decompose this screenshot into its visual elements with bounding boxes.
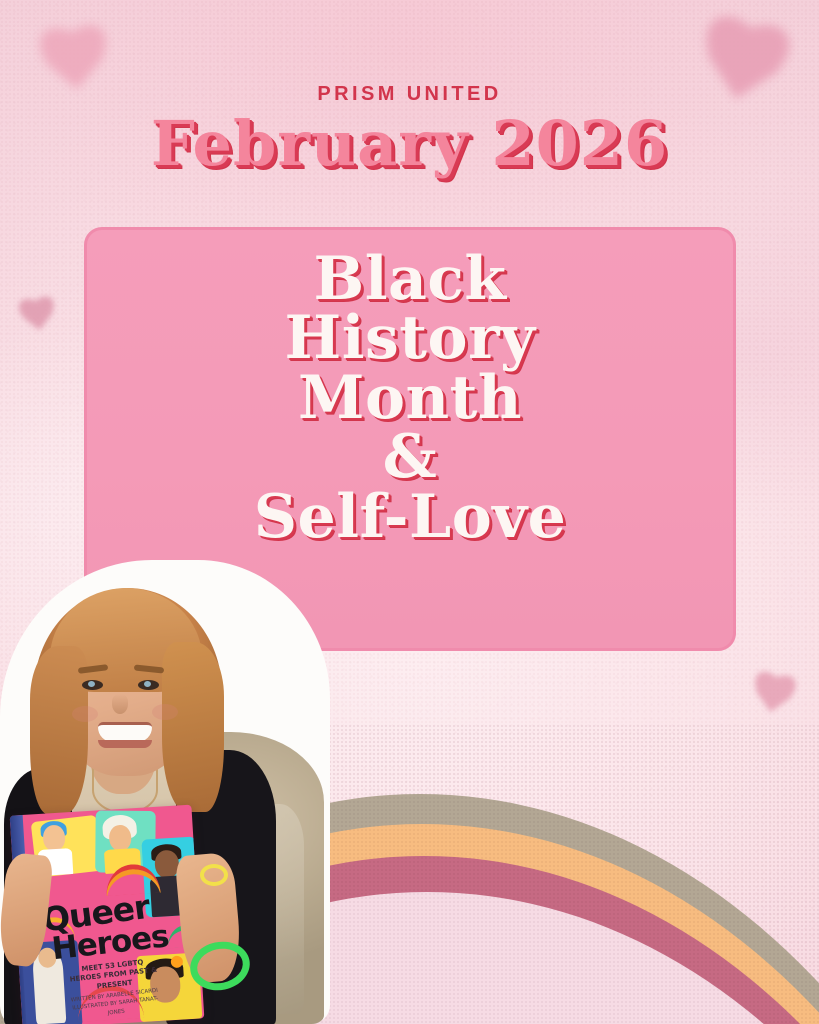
person-photo-cutout: Queer Heroes MEET 53 LGBTQ HEROES FROM P… (0, 554, 338, 1024)
smile (98, 722, 152, 742)
cheek (72, 706, 98, 722)
cheek (152, 704, 178, 720)
heart-icon (744, 670, 801, 725)
eye-highlight (144, 681, 151, 687)
nose (112, 694, 128, 714)
main-title: Black History Month & Self-Love (87, 250, 733, 547)
title-line-3: Month (87, 369, 733, 428)
lower-lip (98, 740, 152, 748)
poster-canvas: PRISM UNITED February 2026 Black History… (0, 0, 819, 1024)
title-line-4: & (87, 428, 733, 487)
title-line-2: History (87, 309, 733, 368)
ring (200, 864, 228, 886)
eye-highlight (88, 681, 95, 687)
person-figure: Queer Heroes MEET 53 LGBTQ HEROES FROM P… (0, 554, 338, 1024)
hair-strand (162, 642, 224, 812)
month-year-heading: February 2026 (0, 112, 819, 175)
title-line-1: Black (87, 250, 733, 309)
organization-name: PRISM UNITED (0, 84, 819, 104)
heart-icon (14, 295, 61, 340)
title-line-5: Self-Love (87, 488, 733, 547)
header: PRISM UNITED February 2026 (0, 84, 819, 175)
